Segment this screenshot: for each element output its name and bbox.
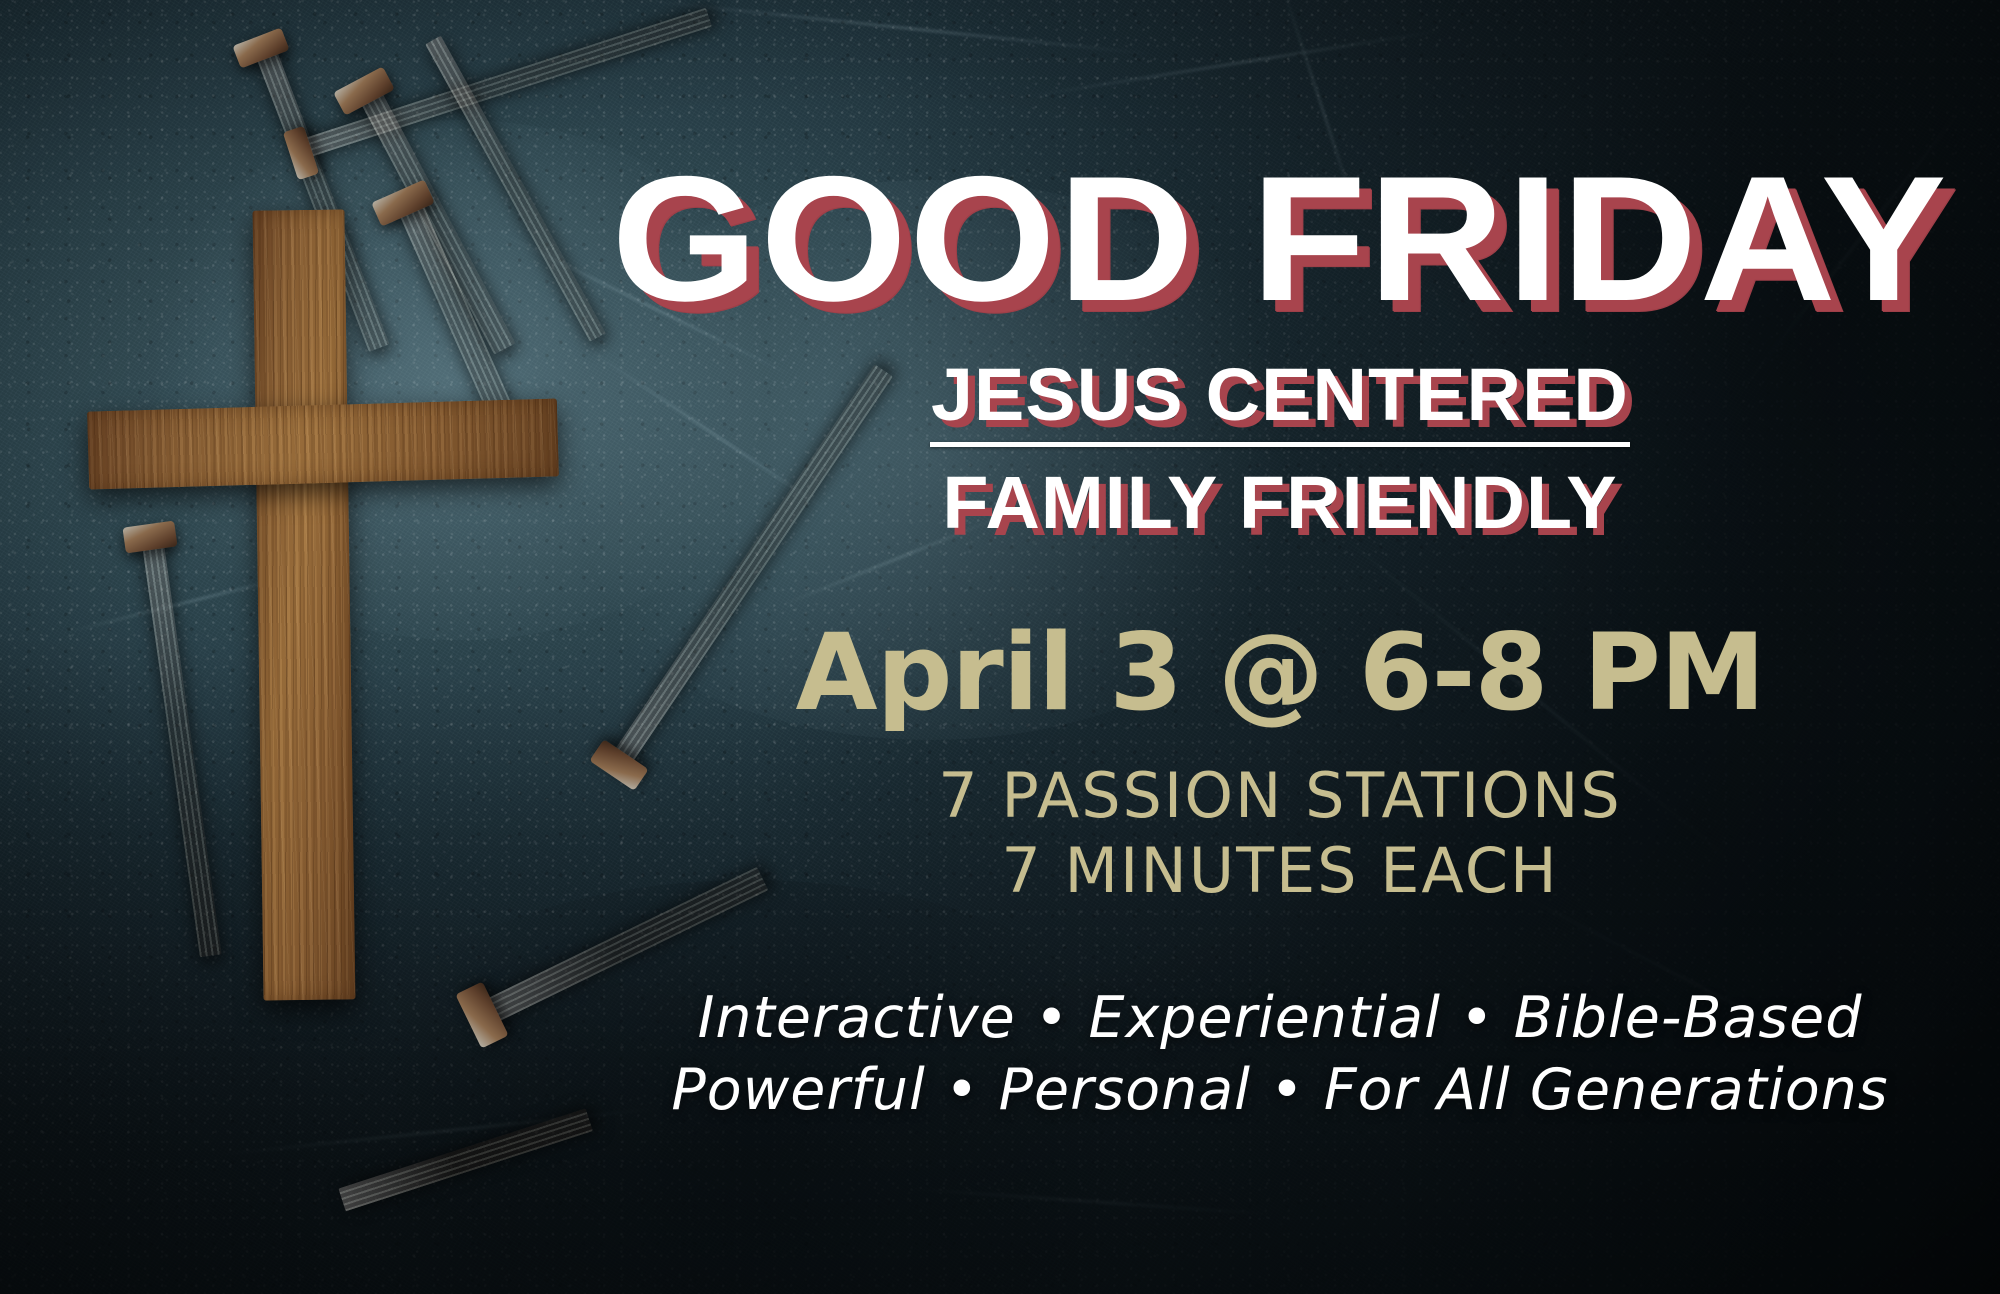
tagline-line-2: Powerful • Personal • For All Generation…	[560, 1062, 2000, 1119]
cross-horizontal-beam	[87, 398, 559, 489]
page-title: GOOD FRIDAY	[517, 150, 2000, 328]
good-friday-poster: GOOD FRIDAY JESUS CENTERED FAMILY FRIEND…	[0, 0, 2000, 1294]
tagline-line-1: Interactive • Experiential • Bible-Based	[560, 990, 2000, 1047]
event-detail-stations: 7 PASSION STATIONS	[560, 765, 2000, 827]
event-detail-duration: 7 MINUTES EACH	[560, 840, 2000, 902]
cross-vertical-beam	[252, 209, 355, 1000]
event-datetime: April 3 @ 6-8 PM	[560, 620, 2000, 726]
text-content: GOOD FRIDAY JESUS CENTERED FAMILY FRIEND…	[560, 0, 2000, 1294]
subtitle-family-friendly: FAMILY FRIENDLY	[546, 460, 2000, 545]
subtitle-jesus-centered: JESUS CENTERED	[546, 352, 2000, 437]
subtitle-divider	[930, 442, 1630, 447]
